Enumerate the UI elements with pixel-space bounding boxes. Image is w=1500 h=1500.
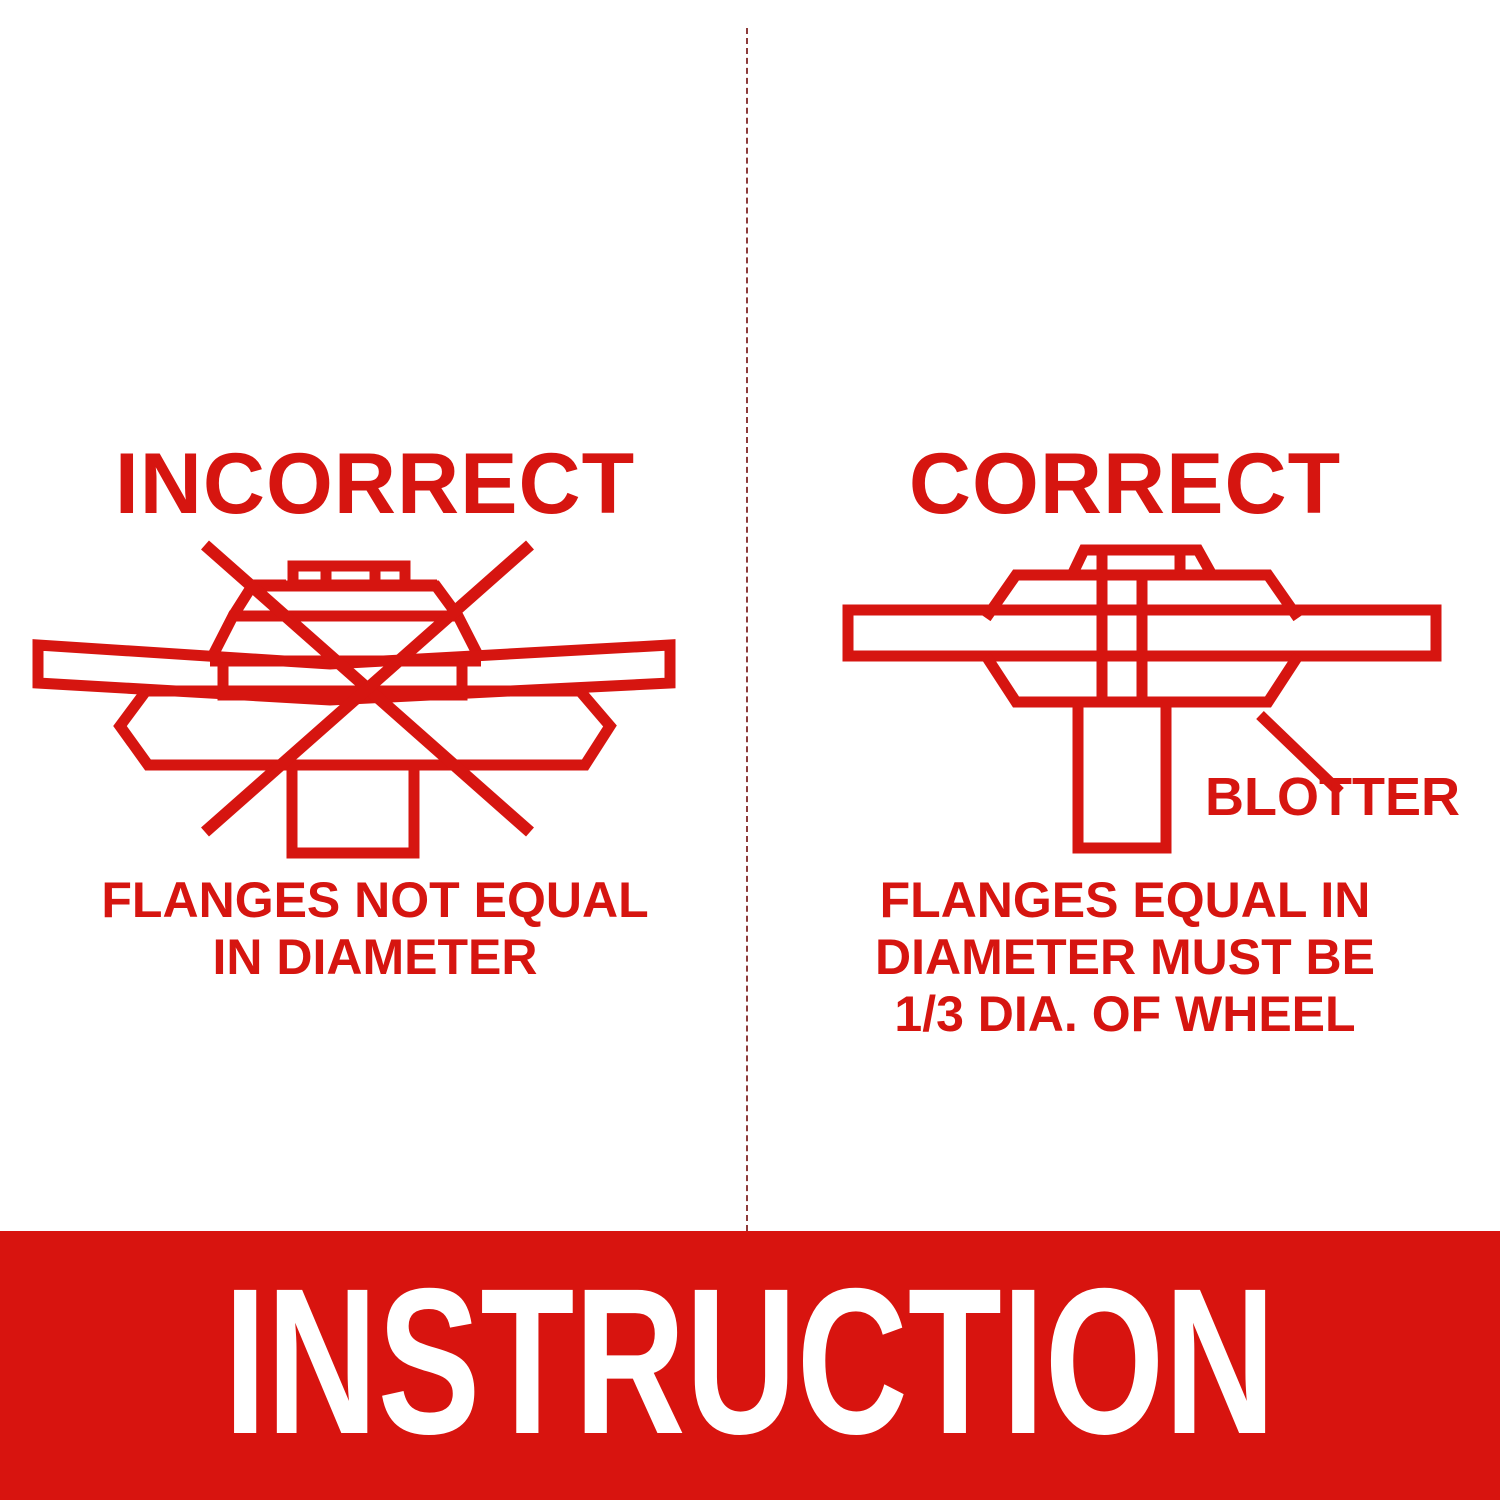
- instruction-banner-text: INSTRUCTION: [224, 1277, 1276, 1448]
- blotter-callout-label: BLOTTER: [1205, 770, 1460, 824]
- incorrect-caption-line-1: FLANGES NOT EQUAL: [0, 872, 750, 929]
- correct-caption-line-3: 1/3 DIA. OF WHEEL: [750, 986, 1500, 1043]
- incorrect-caption-line-2: IN DIAMETER: [0, 929, 750, 986]
- correct-panel: CORRECT: [750, 0, 1500, 1231]
- correct-heading: CORRECT: [750, 441, 1500, 527]
- incorrect-heading: INCORRECT: [0, 441, 750, 527]
- unequal-flanges-diagram: [30, 540, 720, 860]
- instruction-label-sheet: INCORRECT: [0, 0, 1500, 1500]
- incorrect-panel: INCORRECT: [0, 0, 750, 1231]
- wheel-shaft-shape: [292, 765, 414, 853]
- incorrect-caption: FLANGES NOT EQUAL IN DIAMETER: [0, 872, 750, 986]
- correct-caption-line-2: DIAMETER MUST BE: [750, 929, 1500, 986]
- correct-caption-line-1: FLANGES EQUAL IN: [750, 872, 1500, 929]
- wheel-shaft-shape: [1078, 702, 1166, 848]
- instruction-banner: INSTRUCTION: [0, 1231, 1500, 1500]
- correct-caption: FLANGES EQUAL IN DIAMETER MUST BE 1/3 DI…: [750, 872, 1500, 1043]
- bolt-shank-shape: [1102, 575, 1142, 702]
